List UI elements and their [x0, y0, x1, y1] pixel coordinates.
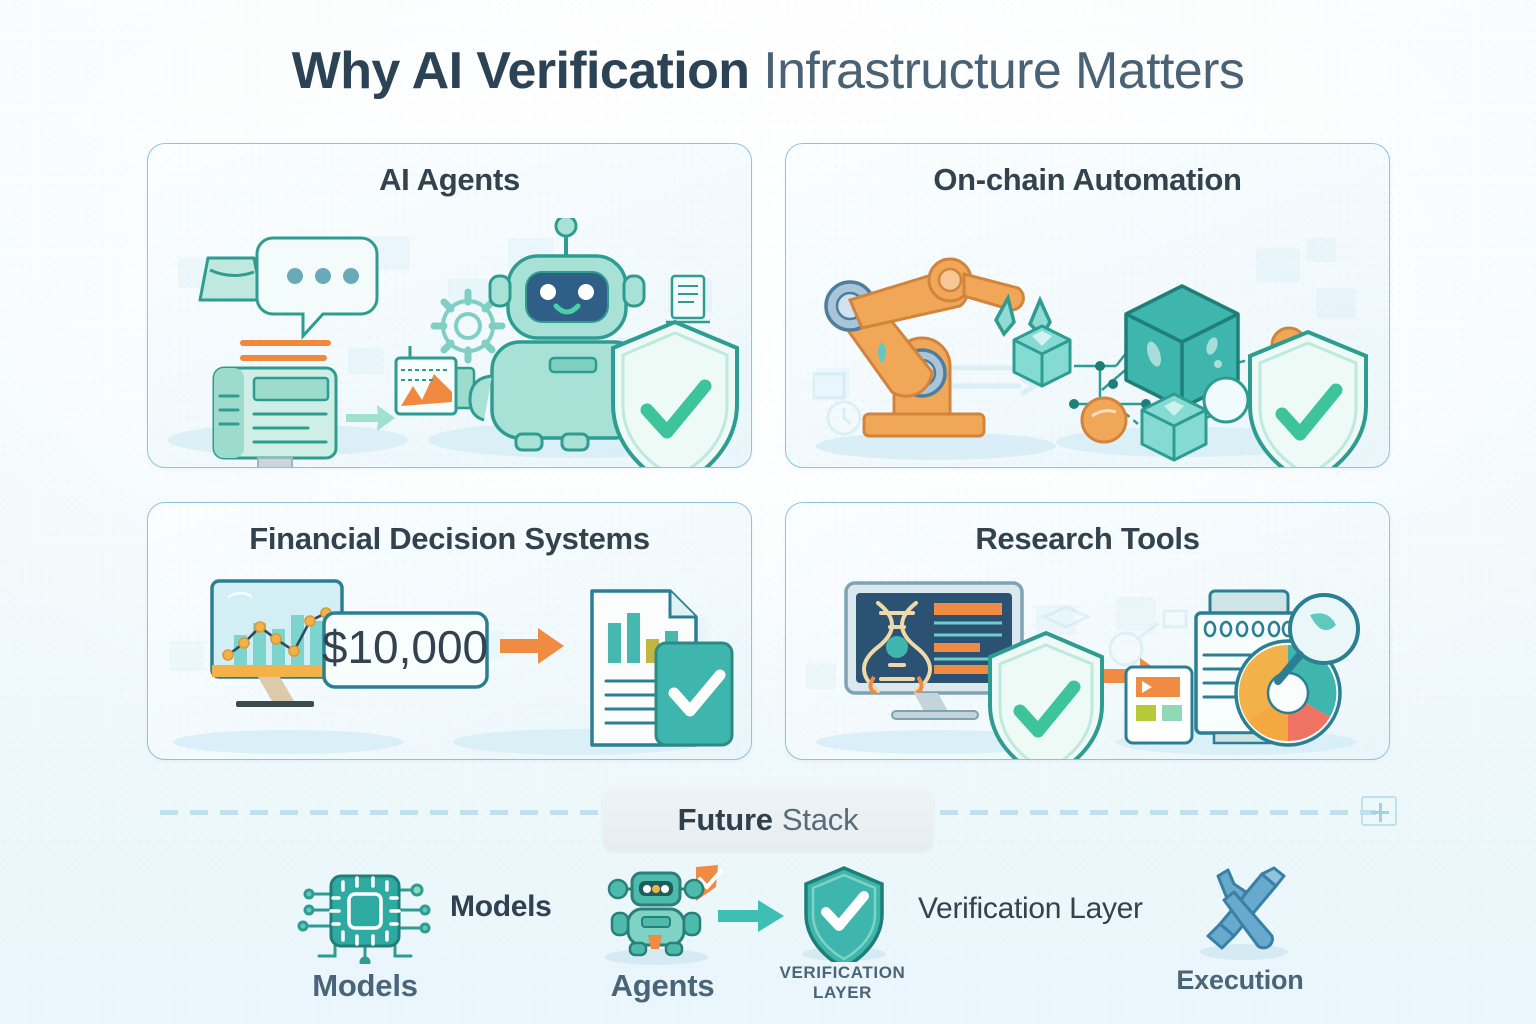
card-on-chain-automation[interactable]: On-chain Automation	[785, 143, 1390, 468]
card-financial-decision-systems[interactable]: Financial Decision Systems	[147, 502, 752, 760]
amount-label: $10,000	[322, 621, 488, 673]
cube-icon	[1014, 326, 1070, 386]
card-artwork	[786, 577, 1389, 759]
shield-check-icon	[613, 322, 737, 468]
stack-node-verification-layer[interactable]	[798, 866, 890, 962]
shield-check-icon	[990, 633, 1102, 760]
cube-icon	[1142, 394, 1206, 460]
slide-card-icon	[1126, 667, 1192, 743]
stack-caption-execution: Execution	[1150, 965, 1330, 996]
orange-bars-icon	[243, 343, 328, 358]
page-title-light: Infrastructure Matters	[749, 42, 1244, 100]
arrow-right-icon	[500, 628, 564, 664]
page-title: Why AI Verification Infrastructure Matte…	[0, 40, 1536, 102]
future-stack-bold: Future	[678, 802, 773, 838]
card-artwork	[148, 218, 751, 467]
stack-caption-verification-layer: VERIFICATION LAYER	[755, 963, 930, 1003]
stack-caption-models: Models	[285, 968, 445, 1004]
page-title-bold: Why AI Verification	[292, 42, 750, 100]
briefcase-icon	[200, 258, 262, 300]
card-title: Financial Decision Systems	[148, 521, 751, 557]
chart-card-icon	[396, 346, 474, 414]
shield-check-icon	[1250, 332, 1366, 468]
card-ai-agents[interactable]: AI Agents	[147, 143, 752, 468]
shield-check-icon	[798, 866, 890, 962]
card-artwork: $10,000	[148, 577, 751, 759]
card-title: On-chain Automation	[786, 162, 1389, 198]
chat-bubble-icon	[257, 238, 377, 336]
stack-inline-label-verification: Verification Layer	[918, 892, 1143, 926]
stack-node-models[interactable]	[285, 868, 445, 964]
financial-illustration: $10,000	[148, 577, 752, 760]
future-stack-light: Stack	[782, 802, 859, 838]
future-stack-badge: FutureStack	[603, 789, 933, 851]
card-artwork	[786, 218, 1389, 467]
tools-icon	[1196, 866, 1292, 962]
stack-inline-label-models: Models	[450, 890, 552, 924]
card-title: AI Agents	[148, 162, 751, 198]
chip-icon	[285, 868, 445, 964]
card-research-tools[interactable]: Research Tools	[785, 502, 1390, 760]
arrow-right-icon	[716, 896, 788, 932]
research-illustration	[786, 577, 1390, 760]
stack-caption-agents: Agents	[575, 968, 750, 1004]
card-title: Research Tools	[786, 521, 1389, 557]
document-monitor-icon	[214, 368, 336, 468]
check-document-icon	[656, 643, 732, 745]
ai-agents-illustration	[148, 218, 752, 468]
clipboard-icon	[666, 276, 710, 322]
orange-dot-icon	[1082, 398, 1126, 442]
plus-icon	[1361, 796, 1397, 826]
stack-node-execution[interactable]	[1196, 866, 1292, 962]
on-chain-illustration	[786, 218, 1390, 468]
